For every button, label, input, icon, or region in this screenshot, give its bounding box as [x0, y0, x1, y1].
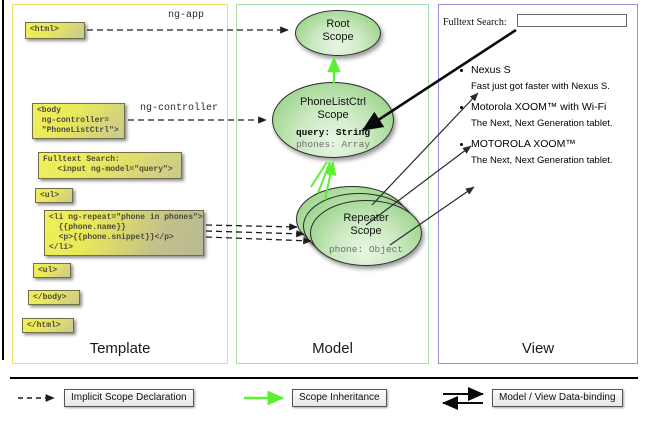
panel-template: Template	[12, 4, 228, 364]
phone-name: Motorola XOOM™ with Wi-Fi	[457, 100, 637, 114]
scope-repeater-title-line2: Scope	[350, 225, 381, 237]
diagram-canvas: Template <html> <body ng-controller= "Ph…	[0, 0, 645, 425]
legend-divider	[10, 377, 638, 379]
legend-item-model-view-data-binding: Model / View Data-binding	[492, 389, 623, 407]
scope-phonelistctrl-title-line2: Scope	[317, 109, 348, 121]
phone-name: Nexus S	[457, 63, 637, 77]
code-box-ul-open: <ul>	[35, 188, 73, 203]
scope-root: Root Scope	[295, 10, 381, 56]
scope-phonelistctrl-title-line1: PhoneListCtrl	[300, 96, 366, 108]
phone-list: Nexus S Fast just got faster with Nexus …	[457, 63, 637, 174]
scope-root-title-line1: Root	[326, 18, 349, 30]
scope-repeater-title-line1: Repeater	[343, 212, 388, 224]
code-box-body-close: </body>	[28, 290, 80, 305]
list-item: MOTOROLA XOOM™ The Next, Next Generation…	[457, 137, 637, 168]
panel-label-model: Model	[237, 340, 428, 357]
scope-phonelistctrl: PhoneListCtrl Scope query: String phones…	[272, 82, 394, 158]
fulltext-search-input[interactable]	[517, 14, 627, 27]
scope-phonelistctrl-prop-phones: phones: Array	[273, 139, 393, 151]
code-box-body-open: <body ng-controller= "PhoneListCtrl">	[32, 103, 125, 139]
scope-repeater-prop-phone: phone: Object	[311, 244, 421, 256]
connector-label-ng-controller: ng-controller	[140, 103, 218, 114]
panel-model: Model	[236, 4, 429, 364]
code-box-ul-close: <ul>	[33, 263, 71, 278]
panel-label-template: Template	[13, 340, 227, 357]
left-vertical-rule	[2, 0, 4, 360]
scope-phonelistctrl-prop-query: query: String	[273, 127, 393, 139]
panel-label-view: View	[439, 340, 637, 357]
legend-item-scope-inheritance: Scope Inheritance	[292, 389, 387, 407]
code-box-search-snippet: Fulltext Search: <input ng-model="query"…	[38, 152, 182, 179]
scope-root-title-line2: Scope	[322, 31, 353, 43]
phone-snippet: The Next, Next Generation tablet.	[457, 154, 637, 168]
list-item: Nexus S Fast just got faster with Nexus …	[457, 63, 637, 94]
list-item: Motorola XOOM™ with Wi-Fi The Next, Next…	[457, 100, 637, 131]
code-box-li-repeat: <li ng-repeat="phone in phones"> {{phone…	[44, 210, 204, 256]
legend-item-implicit-scope-declaration: Implicit Scope Declaration	[64, 389, 194, 407]
code-box-html-close: </html>	[22, 318, 74, 333]
code-box-html-open: <html>	[25, 22, 85, 39]
phone-snippet: The Next, Next Generation tablet.	[457, 117, 637, 131]
view-search-label: Fulltext Search:	[443, 17, 507, 28]
panel-view: Fulltext Search: Nexus S Fast just got f…	[438, 4, 638, 364]
scope-repeater: Repeater Scope phone: Object	[310, 200, 422, 266]
phone-name: MOTOROLA XOOM™	[457, 137, 637, 151]
phone-snippet: Fast just got faster with Nexus S.	[457, 80, 637, 94]
connector-label-ng-app: ng-app	[168, 10, 204, 21]
